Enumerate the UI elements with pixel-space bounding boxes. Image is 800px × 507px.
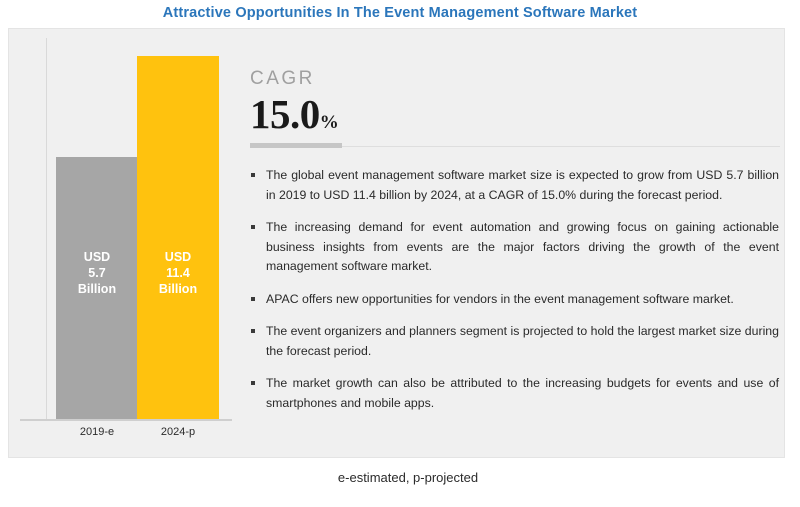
- footnote: e-estimated, p-projected: [248, 470, 568, 485]
- bullet-icon: [251, 225, 255, 229]
- bar-2019[interactable]: USD 5.7 Billion: [56, 157, 138, 419]
- bullet-icon: [251, 297, 255, 301]
- bar-2024-label-line2: 11.4: [137, 265, 219, 281]
- x-axis-tick-2019: 2019-e: [56, 426, 138, 438]
- x-axis-line: [20, 419, 232, 421]
- list-item-text: APAC offers new opportunities for vendor…: [266, 292, 734, 306]
- bullet-icon: [251, 329, 255, 333]
- bar-2024-label-line3: Billion: [137, 281, 219, 297]
- y-axis-line: [46, 38, 47, 420]
- bullet-icon: [251, 381, 255, 385]
- bar-2019-label-line2: 5.7: [56, 265, 138, 281]
- page-title: Attractive Opportunities In The Event Ma…: [0, 5, 800, 21]
- cagr-label: CAGR: [250, 68, 315, 90]
- list-item: The global event management software mar…: [248, 166, 785, 205]
- list-item: APAC offers new opportunities for vendor…: [248, 290, 785, 310]
- bar-2024-label: USD 11.4 Billion: [137, 249, 219, 297]
- highlights-list: The global event management software mar…: [248, 166, 785, 426]
- infographic-root: Attractive Opportunities In The Event Ma…: [0, 0, 800, 507]
- bar-2019-label-line1: USD: [56, 249, 138, 265]
- bar-chart: USD 5.7 Billion USD 11.4 Billion 2019-e …: [8, 28, 238, 458]
- bar-2019-label: USD 5.7 Billion: [56, 249, 138, 297]
- cagr-percent-sign: %: [320, 112, 339, 133]
- bar-2024[interactable]: USD 11.4 Billion: [137, 56, 219, 419]
- list-item: The increasing demand for event automati…: [248, 218, 785, 277]
- bar-2024-label-line1: USD: [137, 249, 219, 265]
- list-item-text: The increasing demand for event automati…: [266, 220, 779, 273]
- cagr-value: 15.0%: [250, 90, 339, 147]
- list-item-text: The market growth can also be attributed…: [266, 376, 779, 410]
- bullet-icon: [251, 173, 255, 177]
- details-panel: CAGR 15.0% The global event management s…: [248, 28, 785, 458]
- list-item: The event organizers and planners segmen…: [248, 322, 785, 361]
- cagr-number: 15.0: [250, 91, 320, 137]
- divider-accent: [250, 143, 342, 148]
- bar-2019-label-line3: Billion: [56, 281, 138, 297]
- list-item-text: The event organizers and planners segmen…: [266, 324, 779, 358]
- x-axis-tick-2024: 2024-p: [137, 426, 219, 438]
- list-item: The market growth can also be attributed…: [248, 374, 785, 413]
- list-item-text: The global event management software mar…: [266, 168, 779, 202]
